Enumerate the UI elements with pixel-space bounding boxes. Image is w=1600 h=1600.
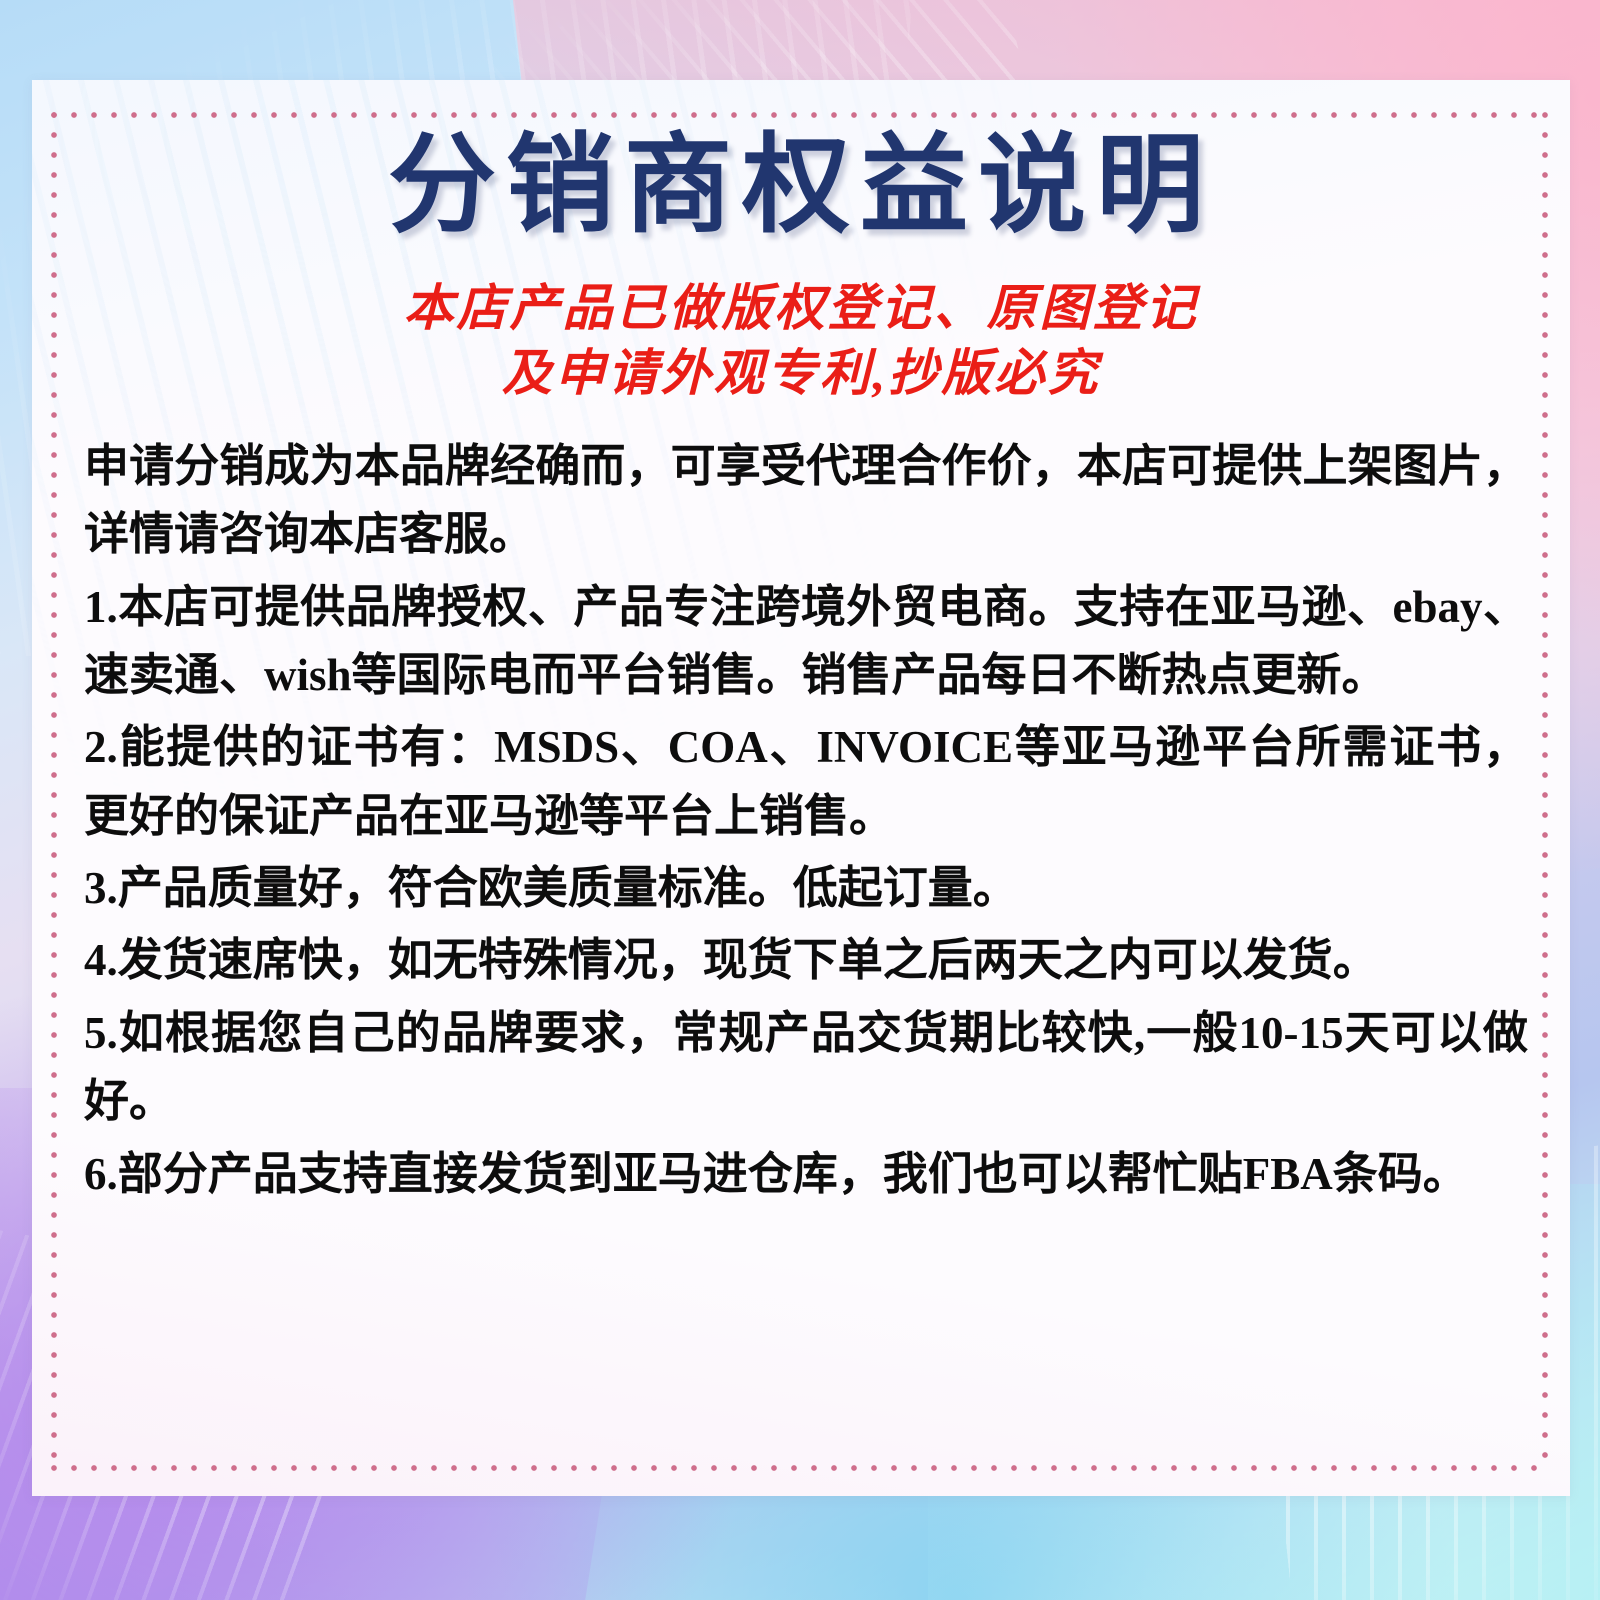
terms-paragraph-item-2: 2.能提供的证书有：MSDS、COA、INVOICE等亚马逊平台所需证书，更好的… xyxy=(84,713,1528,850)
distributor-terms-list: 申请分销成为本品牌经确而，可享受代理合作价，本店可提供上架图片，详情请咨询本店客… xyxy=(62,432,1540,1208)
terms-paragraph-item-6: 6.部分产品支持直接发货到亚马进仓库，我们也可以帮忙贴FBA条码。 xyxy=(84,1140,1528,1208)
copyright-notice: 本店产品已做版权登记、原图登记 及申请外观专利,抄版必究 xyxy=(62,276,1540,406)
terms-paragraph-intro: 申请分销成为本品牌经确而，可享受代理合作价，本店可提供上架图片，详情请咨询本店客… xyxy=(84,432,1528,569)
terms-paragraph-item-5: 5.如根据您自己的品牌要求，常规产品交货期比较快,一般10-15天可以做好。 xyxy=(84,999,1528,1136)
card-content: 分销商权益说明 本店产品已做版权登记、原图登记 及申请外观专利,抄版必究 申请分… xyxy=(32,80,1570,1496)
copyright-notice-line-2: 及申请外观专利,抄版必究 xyxy=(62,341,1540,406)
content-card: 分销商权益说明 本店产品已做版权登记、原图登记 及申请外观专利,抄版必究 申请分… xyxy=(32,80,1570,1496)
terms-paragraph-item-3: 3.产品质量好，符合欧美质量标准。低起订量。 xyxy=(84,854,1528,922)
copyright-notice-line-1: 本店产品已做版权登记、原图登记 xyxy=(62,276,1540,341)
page-title: 分销商权益说明 xyxy=(62,120,1540,252)
terms-paragraph-item-1: 1.本店可提供品牌授权、产品专注跨境外贸电商。支持在亚马逊、ebay、速卖通、w… xyxy=(84,573,1528,710)
terms-paragraph-item-4: 4.发货速席快，如无特殊情况，现货下单之后两天之内可以发货。 xyxy=(84,926,1528,994)
